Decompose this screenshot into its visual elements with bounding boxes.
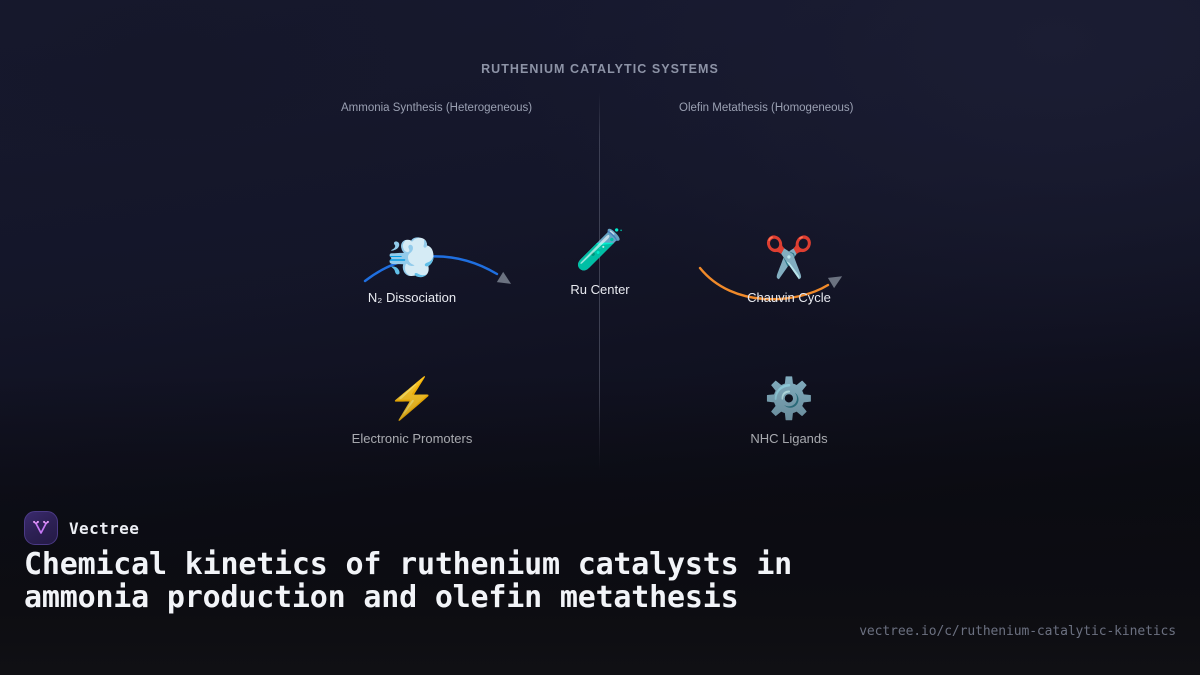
brand-block: Vectree xyxy=(24,511,139,545)
footer-url: vectree.io/c/ruthenium-catalytic-kinetic… xyxy=(859,624,1176,639)
brand-name: Vectree xyxy=(69,519,139,538)
dashing-away-icon: 💨 xyxy=(322,236,502,284)
node-label-n2-dissociation: N₂ Dissociation xyxy=(322,290,502,305)
node-chauvin-cycle[interactable]: ✂️ Chauvin Cycle xyxy=(699,236,879,305)
node-label-nhc-ligands: NHC Ligands xyxy=(699,431,879,446)
node-ru-center[interactable]: 🧪 Ru Center xyxy=(510,228,690,297)
vectree-logo xyxy=(24,511,58,545)
scissors-icon: ✂️ xyxy=(699,236,879,284)
vectree-tree-icon xyxy=(31,518,51,538)
diagram-title: RUTHENIUM CATALYTIC SYSTEMS xyxy=(0,62,1200,76)
headline: Chemical kinetics of ruthenium catalysts… xyxy=(24,549,824,614)
column-subtitle-metathesis: Olefin Metathesis (Homogeneous) xyxy=(679,102,854,114)
gear-icon: ⚙️ xyxy=(699,377,879,425)
node-label-chauvin-cycle: Chauvin Cycle xyxy=(699,290,879,305)
slide-canvas: RUTHENIUM CATALYTIC SYSTEMS Ammonia Synt… xyxy=(0,0,1200,675)
node-n2-dissociation[interactable]: 💨 N₂ Dissociation xyxy=(322,236,502,305)
column-subtitle-ammonia: Ammonia Synthesis (Heterogeneous) xyxy=(341,102,532,114)
node-label-electronic-promoters: Electronic Promoters xyxy=(322,431,502,446)
high-voltage-icon: ⚡ xyxy=(322,377,502,425)
test-tube-icon: 🧪 xyxy=(510,228,690,276)
node-nhc-ligands[interactable]: ⚙️ NHC Ligands xyxy=(699,377,879,446)
node-electronic-promoters[interactable]: ⚡ Electronic Promoters xyxy=(322,377,502,446)
node-label-ru-center: Ru Center xyxy=(510,282,690,297)
